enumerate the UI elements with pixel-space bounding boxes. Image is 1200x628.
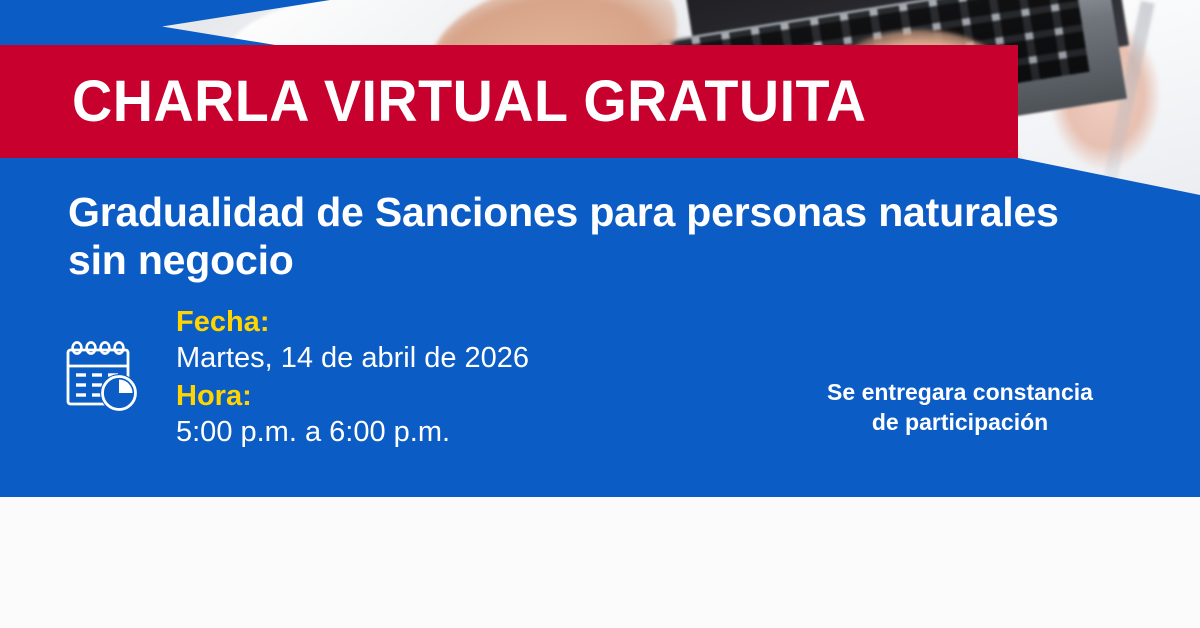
calendar-clock-icon bbox=[62, 341, 140, 415]
ribbon-title: CHARLA VIRTUAL GRATUITA bbox=[72, 73, 867, 131]
event-details: Fecha: Martes, 14 de abril de 2026 Hora:… bbox=[176, 305, 646, 453]
certificate-note: Se entregara constancia de participación bbox=[760, 378, 1160, 438]
red-ribbon: CHARLA VIRTUAL GRATUITA bbox=[0, 45, 1018, 158]
time-value: 5:00 p.m. a 6:00 p.m. bbox=[176, 414, 646, 451]
date-label: Fecha: bbox=[176, 305, 646, 340]
certificate-note-line-1: Se entregara constancia bbox=[760, 378, 1160, 408]
time-label: Hora: bbox=[176, 379, 646, 414]
date-value: Martes, 14 de abril de 2026 bbox=[176, 340, 646, 377]
certificate-note-line-2: de participación bbox=[760, 408, 1160, 438]
page-title: Gradualidad de Sanciones para personas n… bbox=[68, 188, 1088, 285]
footer: REPÚBLICA DEL PERÚ bbox=[0, 497, 1200, 628]
promotional-banner: CHARLA VIRTUAL GRATUITA Gradualidad de S… bbox=[0, 0, 1200, 628]
